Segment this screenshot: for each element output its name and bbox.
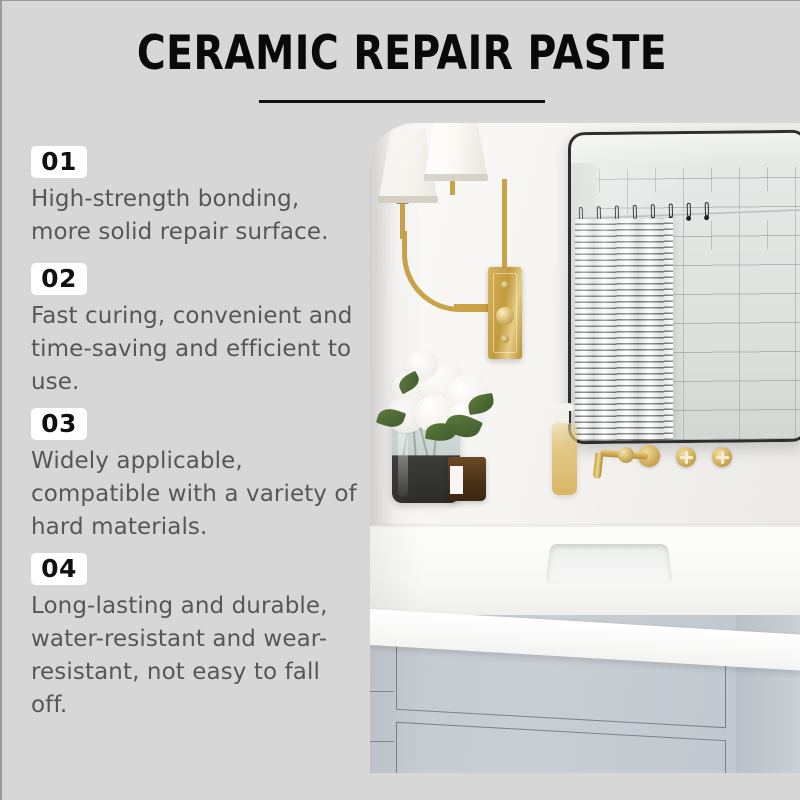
sconce-backplate xyxy=(488,267,522,359)
sconce-stem-left xyxy=(400,199,405,239)
candle-label xyxy=(450,466,463,494)
sconce-screw xyxy=(501,281,509,289)
faucet-hub xyxy=(618,447,634,463)
mirror-glare xyxy=(571,133,800,441)
feature-text: High-strength bonding, more solid repair… xyxy=(31,183,361,249)
product-infographic: CERAMIC REPAIR PASTE 01 High-strength bo… xyxy=(0,0,800,800)
feature-text: Fast curing, convenient and time-saving … xyxy=(31,300,361,399)
faucet-cross-handle xyxy=(680,451,693,464)
page-title: CERAMIC REPAIR PASTE xyxy=(30,29,774,78)
faucet-spout-tip xyxy=(593,453,604,480)
soap-dispenser xyxy=(552,423,577,495)
undermount-sink xyxy=(545,544,673,584)
feature-text: Long-lasting and durable, water-resistan… xyxy=(31,590,361,722)
feature-item: 02 Fast curing, convenient and time-savi… xyxy=(31,263,361,399)
cabinet-seam xyxy=(370,741,394,742)
feature-number-badge: 03 xyxy=(31,408,87,440)
feature-item: 01 High-strength bonding, more solid rep… xyxy=(31,146,361,249)
lamp-shade-right xyxy=(424,123,488,181)
brass-wall-faucet xyxy=(588,441,748,499)
bathroom-vanity-photo xyxy=(370,123,800,773)
bathroom-mirror xyxy=(568,130,800,445)
feature-item: 03 Widely applicable, compatible with a … xyxy=(31,408,361,544)
sconce-center-boss xyxy=(496,307,514,325)
lamp-shade-lip xyxy=(378,196,438,203)
lamp-shade-lip xyxy=(424,174,488,181)
feature-number-badge: 01 xyxy=(31,146,87,178)
brass-wall-sconce xyxy=(384,139,534,369)
feature-number-badge: 04 xyxy=(31,553,87,585)
header: CERAMIC REPAIR PASTE xyxy=(2,29,800,103)
feature-item: 04 Long-lasting and durable, water-resis… xyxy=(31,553,361,722)
cabinet-drawer xyxy=(396,722,726,773)
feature-list: 01 High-strength bonding, more solid rep… xyxy=(31,146,361,726)
feature-text: Widely applicable, compatible with a var… xyxy=(31,445,361,544)
cabinet-seam xyxy=(370,691,394,692)
title-divider xyxy=(259,100,545,103)
sconce-screw xyxy=(501,335,509,343)
feature-number-badge: 02 xyxy=(31,263,87,295)
faucet-cross-handle xyxy=(716,451,729,464)
backsplash-seam xyxy=(370,525,800,527)
